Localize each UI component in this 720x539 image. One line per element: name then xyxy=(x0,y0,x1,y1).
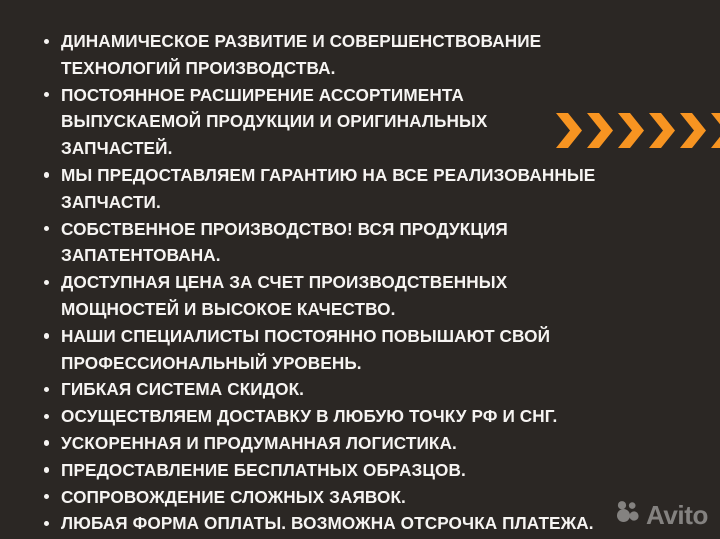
chevron-right-icon xyxy=(618,113,644,148)
bullet-icon xyxy=(44,440,49,445)
chevron-right-icon xyxy=(587,113,613,148)
list-item: НАШИ СПЕЦИАЛИСТЫ ПОСТОЯННО ПОВЫШАЮТ СВОЙ… xyxy=(40,323,600,377)
list-item-label: НАШИ СПЕЦИАЛИСТЫ ПОСТОЯННО ПОВЫШАЮТ СВОЙ… xyxy=(61,326,550,373)
bullet-icon xyxy=(44,494,49,499)
bullet-icon xyxy=(44,414,49,419)
list-item-label: ЛЮБАЯ ФОРМА ОПЛАТЫ. ВОЗМОЖНА ОТСРОЧКА ПЛ… xyxy=(61,513,594,533)
bullet-icon xyxy=(44,39,49,44)
chevron-right-icon xyxy=(711,113,720,148)
list-item-label: УСКОРЕННАЯ И ПРОДУМАННАЯ ЛОГИСТИКА. xyxy=(61,433,457,453)
bullet-icon xyxy=(44,226,49,231)
list-item: ПОСТОЯННОЕ РАСШИРЕНИЕ АССОРТИМЕНТА ВЫПУС… xyxy=(40,82,600,162)
bullet-icon xyxy=(44,467,49,472)
list-item: УСКОРЕННАЯ И ПРОДУМАННАЯ ЛОГИСТИКА. xyxy=(40,430,600,457)
list-item: МЫ ПРЕДОСТАВЛЯЕМ ГАРАНТИЮ НА ВСЕ РЕАЛИЗО… xyxy=(40,162,600,216)
list-item-label: ГИБКАЯ СИСТЕМА СКИДОК. xyxy=(61,379,304,399)
list-item: СОПРОВОЖДЕНИЕ СЛОЖНЫХ ЗАЯВОК. xyxy=(40,484,600,511)
list-item-label: МЫ ПРЕДОСТАВЛЯЕМ ГАРАНТИЮ НА ВСЕ РЕАЛИЗО… xyxy=(61,165,595,212)
list-item: СОБСТВЕННОЕ ПРОИЗВОДСТВО! ВСЯ ПРОДУКЦИЯ … xyxy=(40,216,600,270)
avito-dots-icon xyxy=(616,501,642,528)
list-item: ГИБКАЯ СИСТЕМА СКИДОК. xyxy=(40,376,600,403)
chevron-right-icon xyxy=(649,113,675,148)
list-item-label: ПОСТОЯННОЕ РАСШИРЕНИЕ АССОРТИМЕНТА ВЫПУС… xyxy=(61,85,487,159)
bullet-icon xyxy=(44,387,49,392)
bullet-icon xyxy=(44,280,49,285)
avito-watermark: Avito xyxy=(616,501,708,528)
list-item: ПРЕДОСТАВЛЕНИЕ БЕСПЛАТНЫХ ОБРАЗЦОВ. xyxy=(40,457,600,484)
list-item-label: СОБСТВЕННОЕ ПРОИЗВОДСТВО! ВСЯ ПРОДУКЦИЯ … xyxy=(61,219,508,266)
bullet-icon xyxy=(44,521,49,526)
slide-canvas: ДИНАМИЧЕСКОЕ РАЗВИТИЕ И СОВЕРШЕНСТВОВАНИ… xyxy=(0,0,720,539)
list-item: ЛЮБАЯ ФОРМА ОПЛАТЫ. ВОЗМОЖНА ОТСРОЧКА ПЛ… xyxy=(40,510,600,537)
bullet-icon xyxy=(44,92,49,97)
benefits-list: ДИНАМИЧЕСКОЕ РАЗВИТИЕ И СОВЕРШЕНСТВОВАНИ… xyxy=(40,28,600,537)
avito-wordmark: Avito xyxy=(646,502,708,528)
list-item-label: ДИНАМИЧЕСКОЕ РАЗВИТИЕ И СОВЕРШЕНСТВОВАНИ… xyxy=(61,31,541,78)
bullet-icon xyxy=(44,333,49,338)
chevron-right-icon xyxy=(556,113,582,148)
list-item-label: СОПРОВОЖДЕНИЕ СЛОЖНЫХ ЗАЯВОК. xyxy=(61,487,406,507)
list-item-label: ОСУЩЕСТВЛЯЕМ ДОСТАВКУ В ЛЮБУЮ ТОЧКУ РФ И… xyxy=(61,406,557,426)
bullet-icon xyxy=(44,172,49,177)
list-item: ДОСТУПНАЯ ЦЕНА ЗА СЧЕТ ПРОИЗВОДСТВЕННЫХ … xyxy=(40,269,600,323)
list-item-label: ПРЕДОСТАВЛЕНИЕ БЕСПЛАТНЫХ ОБРАЗЦОВ. xyxy=(61,460,466,480)
list-item: ОСУЩЕСТВЛЯЕМ ДОСТАВКУ В ЛЮБУЮ ТОЧКУ РФ И… xyxy=(40,403,600,430)
chevron-arrow-band xyxy=(556,113,720,148)
chevron-right-icon xyxy=(680,113,706,148)
list-item: ДИНАМИЧЕСКОЕ РАЗВИТИЕ И СОВЕРШЕНСТВОВАНИ… xyxy=(40,28,600,82)
list-item-label: ДОСТУПНАЯ ЦЕНА ЗА СЧЕТ ПРОИЗВОДСТВЕННЫХ … xyxy=(61,272,507,319)
